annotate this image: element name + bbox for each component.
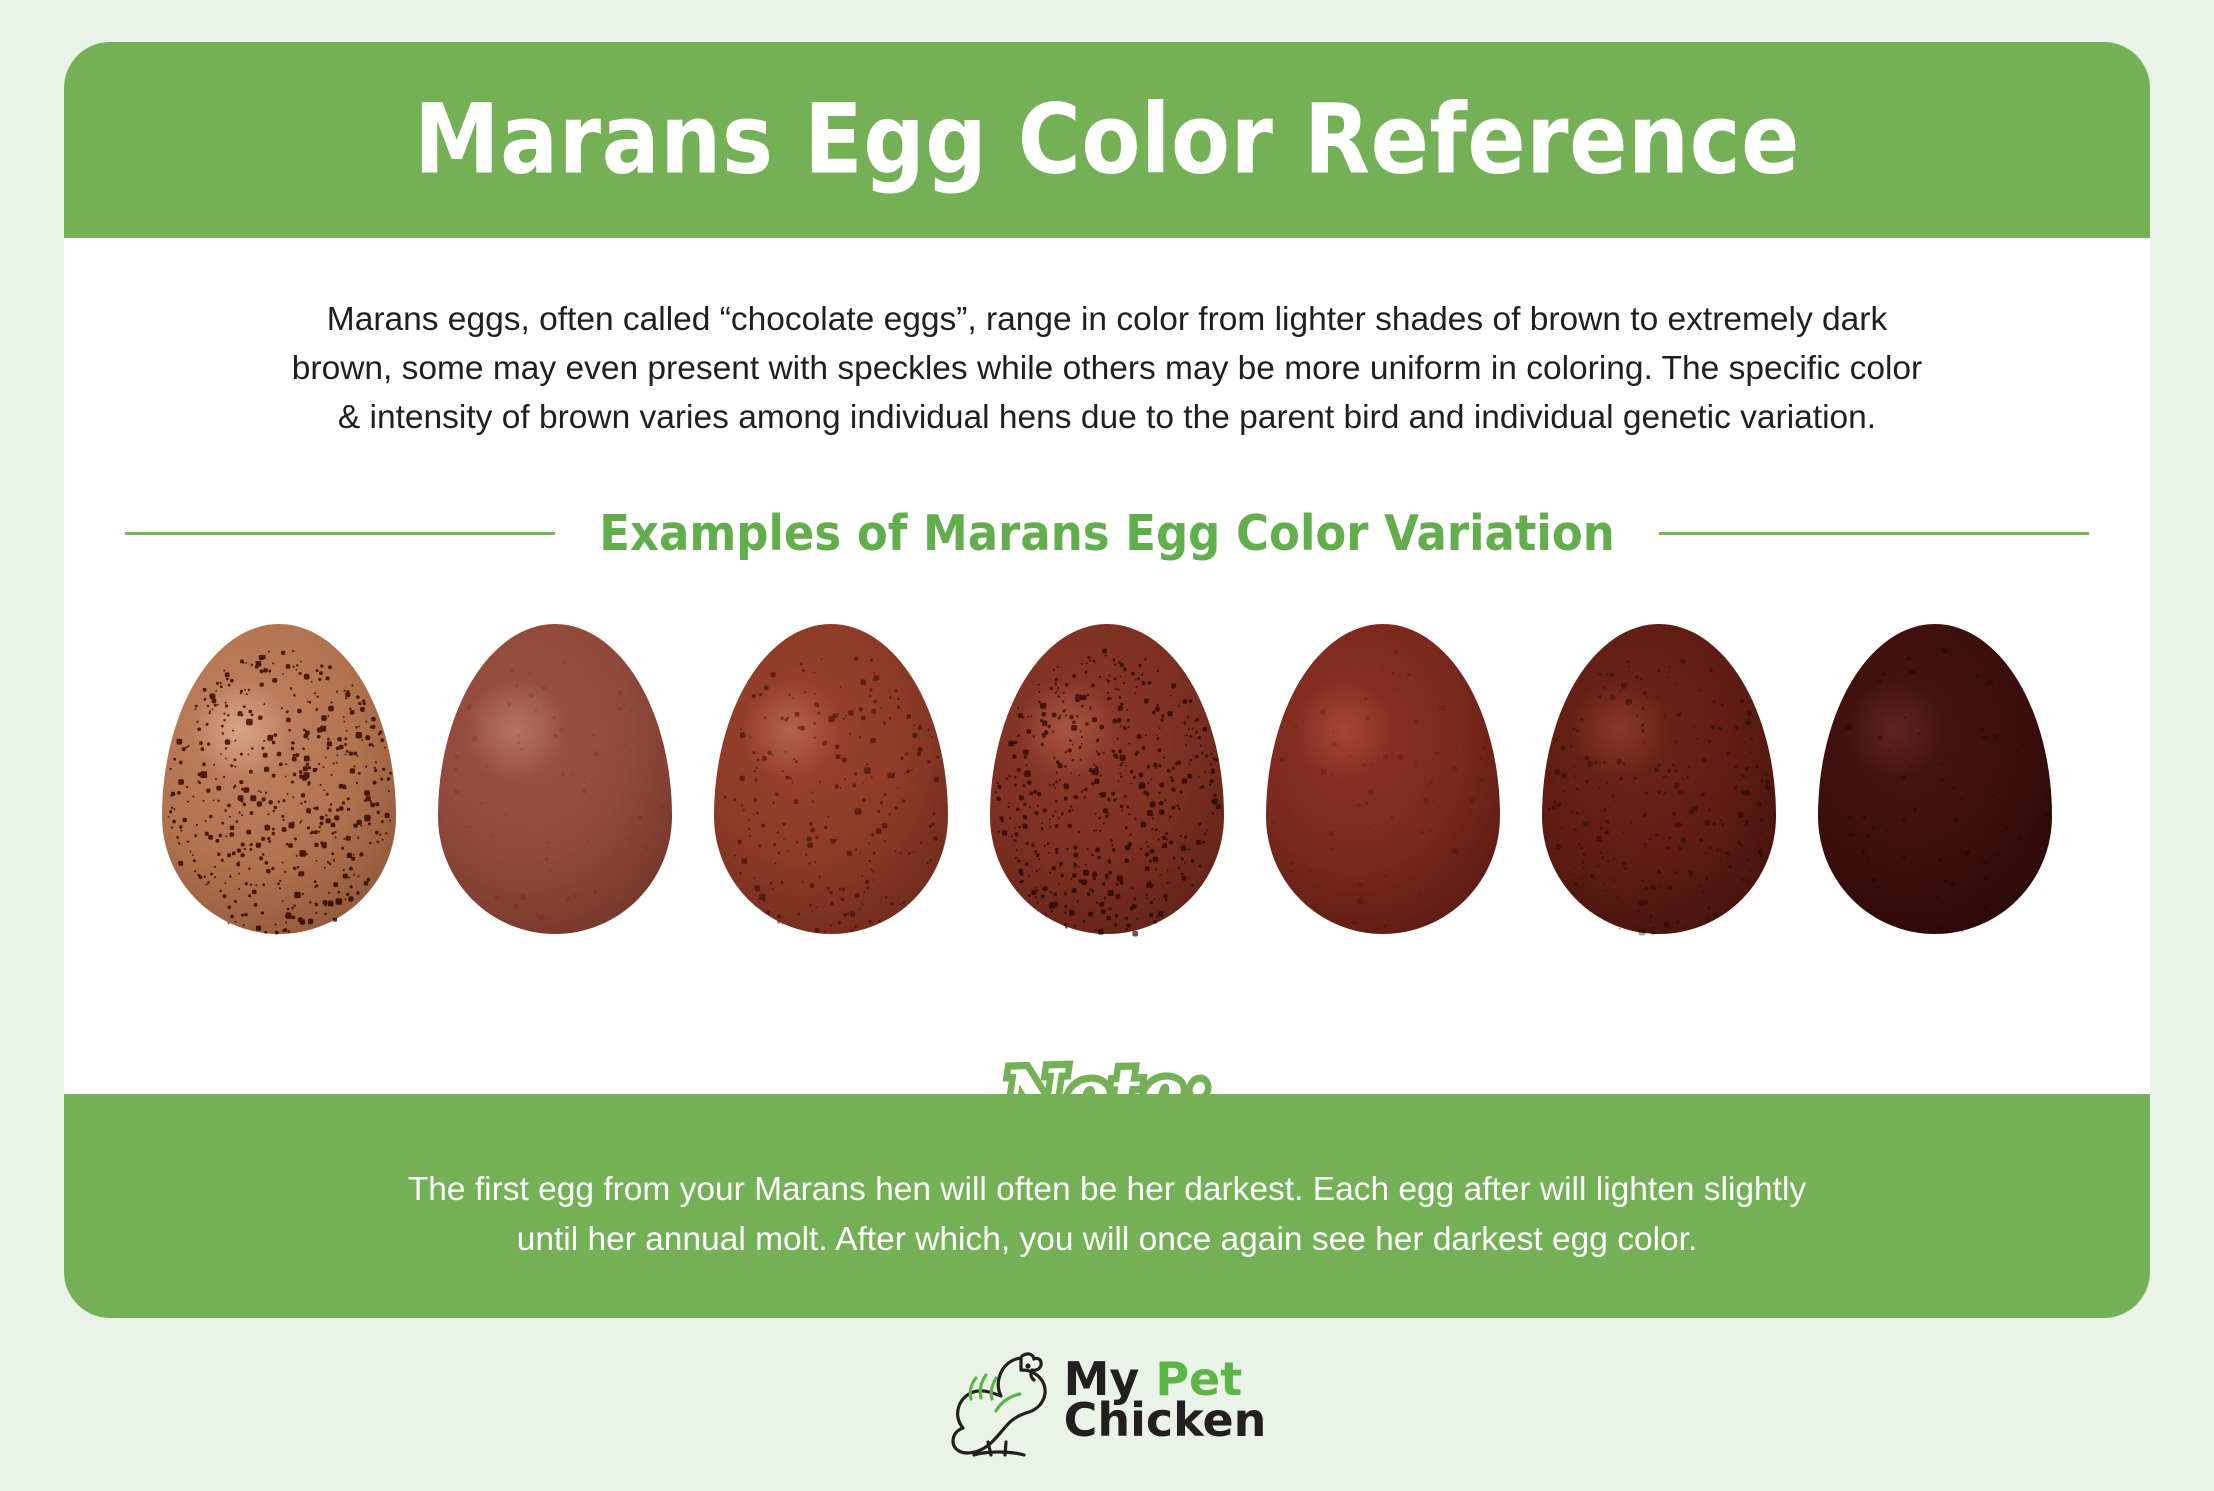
egg-3-medium-rust (714, 624, 948, 934)
egg-swatch (438, 616, 672, 934)
page-title: Marans Egg Color Reference (414, 92, 1800, 188)
intro-line-2: brown, some may even present with speckl… (152, 345, 2062, 394)
egg-swatch (1266, 616, 1500, 934)
note-line-1: The first egg from your Marans hen will … (247, 1165, 1967, 1215)
egg-4-dark-speckled (990, 624, 1224, 934)
note-line-2: until her annual molt. After which, you … (247, 1215, 1967, 1265)
intro-line-3: & intensity of brown varies among indivi… (152, 394, 2062, 443)
card-body: Marans eggs, often called “chocolate egg… (64, 238, 2150, 1094)
egg-1-light-speckled (162, 624, 396, 934)
intro-paragraph: Marans eggs, often called “chocolate egg… (152, 296, 2062, 443)
egg-speckles (1542, 624, 1776, 934)
divider-right (1659, 532, 2089, 535)
egg-swatch-row (64, 604, 2150, 934)
section-heading: Examples of Marans Egg Color Variation (599, 505, 1615, 562)
egg-speckles (714, 624, 948, 934)
egg-speckles (1818, 624, 2052, 934)
egg-swatch (1818, 616, 2052, 934)
chicken-icon (948, 1342, 1056, 1458)
brand-logo: My Pet Chicken (0, 1342, 2214, 1458)
infographic-card: Marans Egg Color Reference Marans eggs, … (64, 42, 2150, 1318)
egg-7-darkest (1818, 624, 2052, 934)
section-heading-row: Examples of Marans Egg Color Variation (64, 507, 2150, 560)
egg-speckles (438, 624, 672, 934)
egg-speckles (1266, 624, 1500, 934)
egg-swatch (714, 616, 948, 934)
egg-swatch (162, 616, 396, 934)
logo-word-chicken: Chicken (1064, 1400, 1267, 1441)
egg-swatch (1542, 616, 1776, 934)
header-band: Marans Egg Color Reference (64, 42, 2150, 238)
egg-swatch (990, 616, 1224, 934)
divider-left (125, 532, 555, 535)
egg-5-brick-red (1266, 624, 1500, 934)
note-paragraph: The first egg from your Marans hen will … (247, 1165, 1967, 1266)
logo-wordmark: My Pet Chicken (1064, 1359, 1267, 1442)
egg-speckles (990, 624, 1224, 934)
infographic-page: Marans Egg Color Reference Marans eggs, … (0, 0, 2214, 1491)
egg-speckles (162, 624, 396, 934)
note-band: The first egg from your Marans hen will … (64, 1094, 2150, 1318)
egg-2-smooth-terracotta (438, 624, 672, 934)
chicken-eye-icon (1025, 1363, 1030, 1368)
intro-line-1: Marans eggs, often called “chocolate egg… (152, 296, 2062, 345)
egg-6-deep-chocolate (1542, 624, 1776, 934)
